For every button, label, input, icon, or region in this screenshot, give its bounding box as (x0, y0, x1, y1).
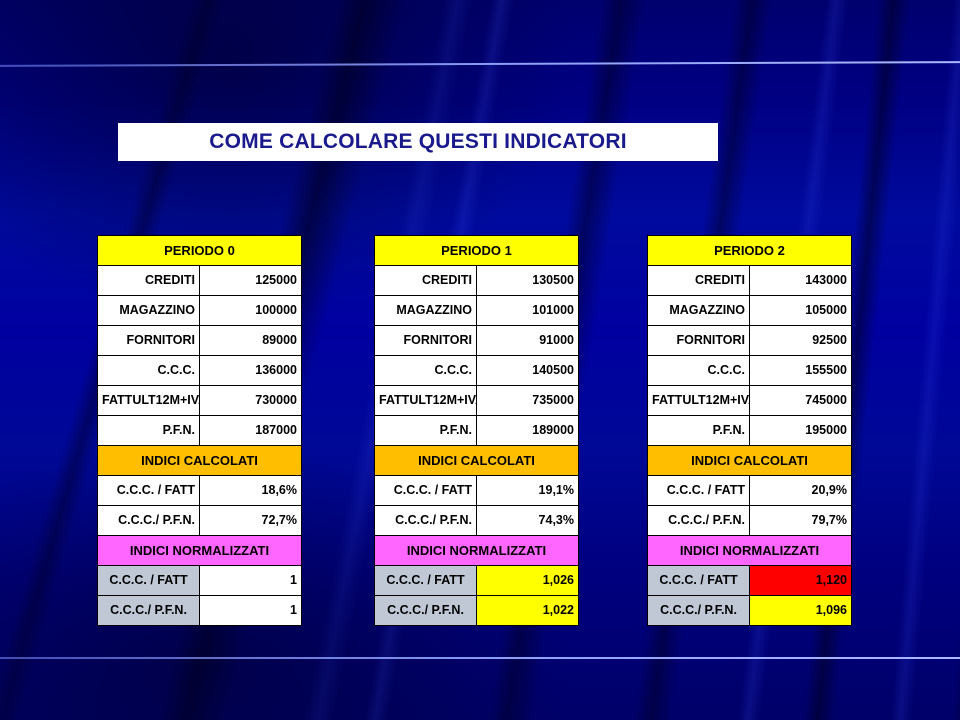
normalizzati-label-0: C.C.C. / FATT (648, 566, 750, 596)
data-row: FATTULT12M+IVA730000 (98, 386, 302, 416)
period-header-row: PERIODO 2 (648, 236, 852, 266)
row-value-3: 140500 (477, 356, 579, 386)
row-label-5: P.F.N. (98, 416, 200, 446)
row-label-2: FORNITORI (375, 326, 477, 356)
data-row: C.C.C.140500 (375, 356, 579, 386)
data-row: C.C.C.155500 (648, 356, 852, 386)
data-row: P.F.N.187000 (98, 416, 302, 446)
period-header-row: PERIODO 0 (98, 236, 302, 266)
period-header-label: PERIODO 2 (648, 236, 852, 266)
normalizzati-label-1: C.C.C./ P.F.N. (375, 596, 477, 626)
section-label-calcolati: INDICI CALCOLATI (98, 446, 302, 476)
normalizzati-row: C.C.C./ P.F.N.1,022 (375, 596, 579, 626)
row-value-5: 189000 (477, 416, 579, 446)
row-label-3: C.C.C. (375, 356, 477, 386)
row-value-2: 89000 (200, 326, 302, 356)
normalizzati-label-1: C.C.C./ P.F.N. (648, 596, 750, 626)
normalizzati-value-0: 1,026 (477, 566, 579, 596)
data-row: CREDITI143000 (648, 266, 852, 296)
period-header-row: PERIODO 1 (375, 236, 579, 266)
section-header-calcolati: INDICI CALCOLATI (375, 446, 579, 476)
row-label-0: CREDITI (98, 266, 200, 296)
section-header-normalizzati: INDICI NORMALIZZATI (98, 536, 302, 566)
data-row: P.F.N.189000 (375, 416, 579, 446)
row-value-1: 105000 (750, 296, 852, 326)
data-row: FORNITORI92500 (648, 326, 852, 356)
row-label-2: FORNITORI (648, 326, 750, 356)
row-value-5: 195000 (750, 416, 852, 446)
calcolati-label-0: C.C.C. / FATT (648, 476, 750, 506)
row-value-2: 92500 (750, 326, 852, 356)
calcolati-row: C.C.C. / FATT19,1% (375, 476, 579, 506)
page-title: COME CALCOLARE QUESTI INDICATORI (209, 130, 626, 154)
calcolati-value-1: 74,3% (477, 506, 579, 536)
section-label-normalizzati: INDICI NORMALIZZATI (648, 536, 852, 566)
data-row: CREDITI130500 (375, 266, 579, 296)
calcolati-label-1: C.C.C./ P.F.N. (98, 506, 200, 536)
period-table-1: PERIODO 1CREDITI130500MAGAZZINO101000FOR… (374, 235, 579, 626)
data-row: FORNITORI91000 (375, 326, 579, 356)
data-row: P.F.N.195000 (648, 416, 852, 446)
row-label-3: C.C.C. (98, 356, 200, 386)
calcolati-value-0: 20,9% (750, 476, 852, 506)
data-row: C.C.C.136000 (98, 356, 302, 386)
normalizzati-value-1: 1 (200, 596, 302, 626)
calcolati-value-1: 79,7% (750, 506, 852, 536)
normalizzati-value-1: 1,022 (477, 596, 579, 626)
row-value-0: 130500 (477, 266, 579, 296)
row-value-1: 101000 (477, 296, 579, 326)
data-row: MAGAZZINO105000 (648, 296, 852, 326)
row-value-0: 125000 (200, 266, 302, 296)
row-value-4: 735000 (477, 386, 579, 416)
section-header-normalizzati: INDICI NORMALIZZATI (648, 536, 852, 566)
row-value-4: 745000 (750, 386, 852, 416)
row-value-1: 100000 (200, 296, 302, 326)
row-label-3: C.C.C. (648, 356, 750, 386)
calcolati-label-0: C.C.C. / FATT (375, 476, 477, 506)
normalizzati-row: C.C.C. / FATT1,120 (648, 566, 852, 596)
row-value-0: 143000 (750, 266, 852, 296)
row-label-5: P.F.N. (648, 416, 750, 446)
calcolati-row: C.C.C. / FATT20,9% (648, 476, 852, 506)
data-row: MAGAZZINO101000 (375, 296, 579, 326)
row-value-3: 136000 (200, 356, 302, 386)
row-label-4: FATTULT12M+IVA (98, 386, 200, 416)
calcolati-label-1: C.C.C./ P.F.N. (375, 506, 477, 536)
normalizzati-value-0: 1 (200, 566, 302, 596)
row-value-2: 91000 (477, 326, 579, 356)
slide-canvas: COME CALCOLARE QUESTI INDICATORI PERIODO… (0, 0, 960, 720)
normalizzati-label-0: C.C.C. / FATT (375, 566, 477, 596)
period-header-label: PERIODO 0 (98, 236, 302, 266)
calcolati-row: C.C.C./ P.F.N.74,3% (375, 506, 579, 536)
data-row: FATTULT12M+IVA745000 (648, 386, 852, 416)
calcolati-row: C.C.C./ P.F.N.72,7% (98, 506, 302, 536)
normalizzati-value-1: 1,096 (750, 596, 852, 626)
section-label-calcolati: INDICI CALCOLATI (375, 446, 579, 476)
normalizzati-row: C.C.C./ P.F.N.1 (98, 596, 302, 626)
section-header-calcolati: INDICI CALCOLATI (648, 446, 852, 476)
row-label-0: CREDITI (375, 266, 477, 296)
row-label-1: MAGAZZINO (375, 296, 477, 326)
calcolati-label-0: C.C.C. / FATT (98, 476, 200, 506)
row-value-4: 730000 (200, 386, 302, 416)
row-value-3: 155500 (750, 356, 852, 386)
period-table-0: PERIODO 0CREDITI125000MAGAZZINO100000FOR… (97, 235, 302, 626)
row-label-1: MAGAZZINO (648, 296, 750, 326)
section-label-normalizzati: INDICI NORMALIZZATI (375, 536, 579, 566)
calcolati-value-0: 19,1% (477, 476, 579, 506)
section-label-calcolati: INDICI CALCOLATI (648, 446, 852, 476)
row-label-5: P.F.N. (375, 416, 477, 446)
calcolati-row: C.C.C. / FATT18,6% (98, 476, 302, 506)
title-banner: COME CALCOLARE QUESTI INDICATORI (118, 123, 718, 161)
data-row: FATTULT12M+IVA735000 (375, 386, 579, 416)
background-divider-line-bottom (0, 657, 960, 659)
calcolati-label-1: C.C.C./ P.F.N. (648, 506, 750, 536)
section-header-calcolati: INDICI CALCOLATI (98, 446, 302, 476)
calcolati-value-0: 18,6% (200, 476, 302, 506)
section-header-normalizzati: INDICI NORMALIZZATI (375, 536, 579, 566)
row-label-0: CREDITI (648, 266, 750, 296)
data-row: FORNITORI89000 (98, 326, 302, 356)
calcolati-row: C.C.C./ P.F.N.79,7% (648, 506, 852, 536)
row-label-4: FATTULT12M+IVA (648, 386, 750, 416)
period-table-2: PERIODO 2CREDITI143000MAGAZZINO105000FOR… (647, 235, 852, 626)
data-row: MAGAZZINO100000 (98, 296, 302, 326)
row-label-4: FATTULT12M+IVA (375, 386, 477, 416)
normalizzati-row: C.C.C. / FATT1 (98, 566, 302, 596)
calcolati-value-1: 72,7% (200, 506, 302, 536)
row-label-1: MAGAZZINO (98, 296, 200, 326)
normalizzati-row: C.C.C. / FATT1,026 (375, 566, 579, 596)
normalizzati-label-1: C.C.C./ P.F.N. (98, 596, 200, 626)
section-label-normalizzati: INDICI NORMALIZZATI (98, 536, 302, 566)
row-label-2: FORNITORI (98, 326, 200, 356)
normalizzati-value-0: 1,120 (750, 566, 852, 596)
normalizzati-label-0: C.C.C. / FATT (98, 566, 200, 596)
period-header-label: PERIODO 1 (375, 236, 579, 266)
data-row: CREDITI125000 (98, 266, 302, 296)
row-value-5: 187000 (200, 416, 302, 446)
normalizzati-row: C.C.C./ P.F.N.1,096 (648, 596, 852, 626)
